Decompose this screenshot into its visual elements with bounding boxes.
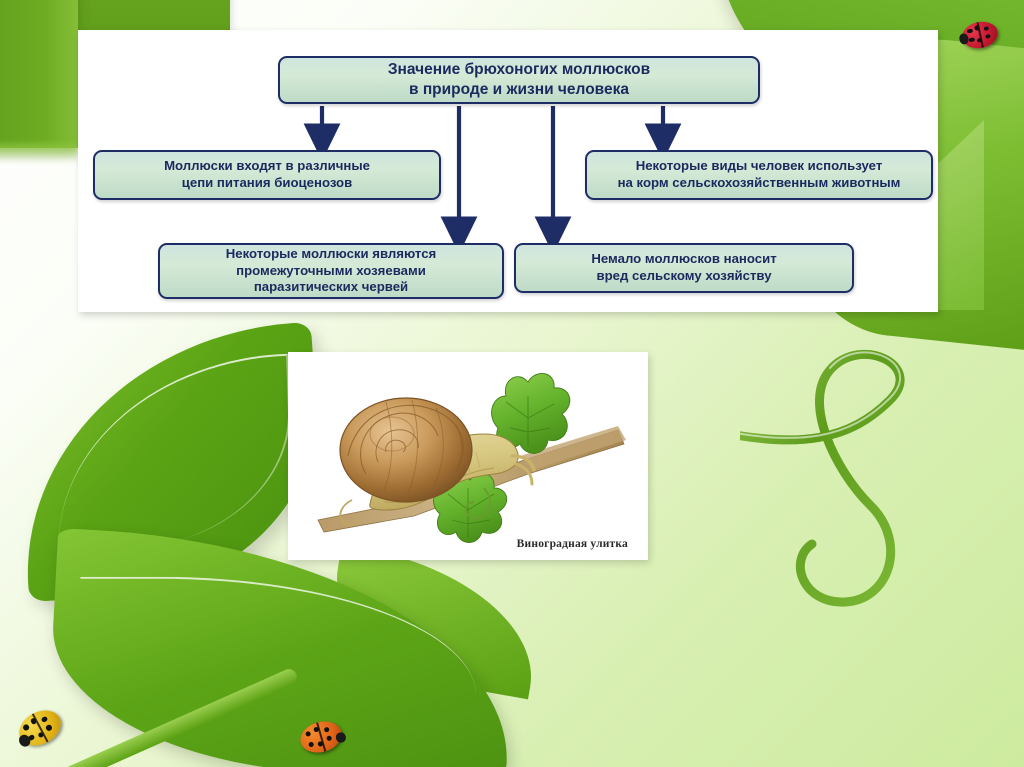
diagram-node-intermediate-hosts-line1: Некоторые моллюски являются: [226, 246, 436, 263]
diagram-node-root-line2: в природе и жизни человека: [388, 80, 650, 100]
diagram-node-agriculture-harm: Немало моллюсков наносит вред сельскому …: [514, 243, 854, 293]
diagram-node-animal-feed-line1: Некоторые виды человек использует: [618, 158, 901, 175]
diagram-node-food-chains-line2: цепи питания биоценозов: [164, 175, 370, 192]
diagram-node-intermediate-hosts-line2: промежуточными хозяевами: [226, 263, 436, 280]
ladybug-yellow-icon: [13, 704, 67, 753]
leaf-shape-large-bottom-left: [46, 528, 517, 767]
slide-canvas: Значение брюхоногих моллюсков в природе …: [0, 0, 1024, 767]
diagram-node-intermediate-hosts-line3: паразитических червей: [226, 279, 436, 296]
ladybug-orange-icon: [297, 717, 346, 757]
diagram-node-root: Значение брюхоногих моллюсков в природе …: [278, 56, 760, 104]
diagram-node-intermediate-hosts: Некоторые моллюски являются промежуточны…: [158, 243, 504, 299]
leaf-shape-large-upper-left: [11, 322, 328, 602]
snail-caption: Виноградная улитка: [517, 538, 628, 550]
diagram-node-animal-feed: Некоторые виды человек использует на кор…: [585, 150, 933, 200]
leaf-shape-small-bottom-center: [321, 545, 549, 700]
diagram-node-agriculture-harm-line2: вред сельскому хозяйству: [591, 268, 776, 285]
diagram-node-food-chains: Моллюски входят в различные цепи питания…: [93, 150, 441, 200]
tendril-curl-icon: [740, 330, 970, 660]
green-frame-band-left: [0, 0, 78, 148]
leaf-stem: [1, 667, 300, 767]
snail-illustration-card: Виноградная улитка: [288, 352, 648, 560]
snail-illustration: [288, 352, 648, 560]
ladybug-red-icon: [960, 19, 1001, 52]
diagram-node-agriculture-harm-line1: Немало моллюсков наносит: [591, 251, 776, 268]
diagram-node-animal-feed-line2: на корм сельскохозяйственным животным: [618, 175, 901, 192]
diagram-node-root-line1: Значение брюхоногих моллюсков: [388, 60, 650, 80]
diagram-node-food-chains-line1: Моллюски входят в различные: [164, 158, 370, 175]
